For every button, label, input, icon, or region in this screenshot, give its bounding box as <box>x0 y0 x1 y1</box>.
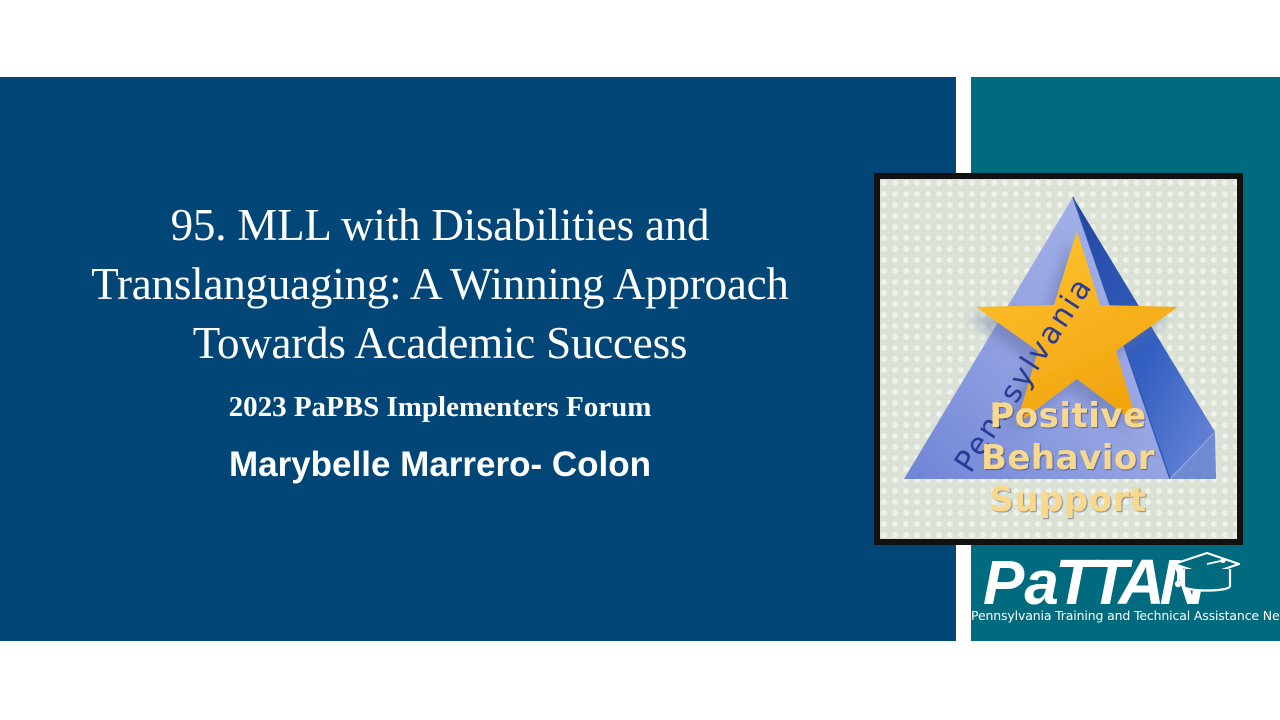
pattan-logo: Pa TTAN Pennsylvania Training and Techni… <box>971 548 1280 641</box>
presenter-name: Marybelle Marrero- Colon <box>0 439 880 491</box>
title-block: 95. MLL with Disabilities and Translangu… <box>0 196 880 491</box>
pattan-wordmark: Pa TTAN <box>971 548 1280 614</box>
pattan-tagline: Pennsylvania Training and Technical Assi… <box>971 608 1280 623</box>
page-title-line-1: 95. MLL with Disabilities and <box>0 196 880 255</box>
pattan-wordmark-pa: Pa <box>983 549 1059 614</box>
page-title-line-3: Towards Academic Success <box>0 314 880 373</box>
page-title-line-2: Translanguaging: A Winning Approach <box>0 255 880 314</box>
pattan-wordmark-graphic: Pa TTAN <box>971 548 1280 614</box>
pbs-logo-inner: Pennsylvania Positive Behavior Support <box>880 179 1237 539</box>
subtitle: 2023 PaPBS Implementers Forum <box>0 379 880 435</box>
slide-canvas: 95. MLL with Disabilities and Translangu… <box>0 0 1280 720</box>
pbs-logo: Pennsylvania Positive Behavior Support <box>874 173 1243 545</box>
